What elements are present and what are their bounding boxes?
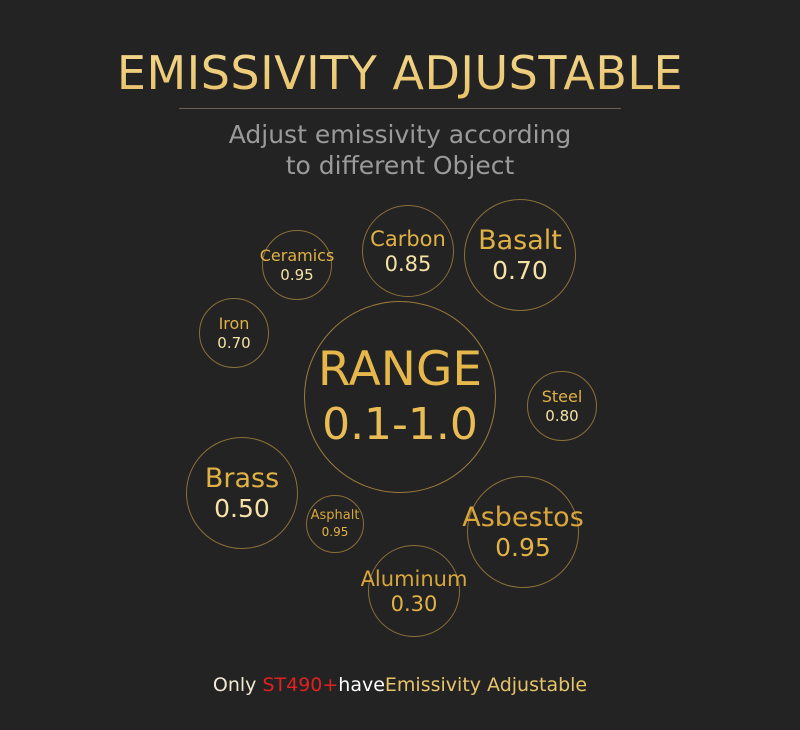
footer-have-text: have bbox=[338, 674, 385, 696]
bubble-steel-label: Steel bbox=[542, 387, 583, 406]
page-subtitle: Adjust emissivity according to different… bbox=[0, 119, 800, 181]
bubble-steel-value: 0.80 bbox=[545, 407, 578, 425]
bubble-brass[interactable]: Brass 0.50 bbox=[186, 437, 298, 549]
header: EMISSIVITY ADJUSTABLE Adjust emissivity … bbox=[0, 0, 800, 181]
bubble-range-value: 0.1-1.0 bbox=[322, 400, 478, 450]
bubble-iron-label: Iron bbox=[219, 314, 250, 333]
bubble-aluminum[interactable]: Aluminum 0.30 bbox=[368, 545, 460, 637]
bubble-asphalt-label: Asphalt bbox=[311, 508, 360, 524]
bubble-carbon-label: Carbon bbox=[370, 227, 446, 251]
footer-only-text: Only bbox=[213, 674, 263, 696]
bubble-iron-value: 0.70 bbox=[217, 334, 250, 352]
bubble-range[interactable]: RANGE 0.1-1.0 bbox=[304, 301, 496, 493]
bubble-basalt-value: 0.70 bbox=[492, 257, 548, 285]
title-divider bbox=[179, 108, 621, 109]
bubble-asbestos-label: Asbestos bbox=[462, 503, 584, 533]
bubble-asphalt-value: 0.95 bbox=[322, 525, 349, 540]
bubble-ceramics-value: 0.95 bbox=[280, 266, 313, 284]
bubble-iron[interactable]: Iron 0.70 bbox=[199, 298, 269, 368]
page-title: EMISSIVITY ADJUSTABLE bbox=[0, 0, 800, 100]
bubble-ceramics[interactable]: Ceramics 0.95 bbox=[262, 230, 332, 300]
footer-feature-text: Emissivity Adjustable bbox=[385, 674, 587, 696]
bubble-steel[interactable]: Steel 0.80 bbox=[527, 371, 597, 441]
bubble-aluminum-label: Aluminum bbox=[361, 567, 468, 591]
bubble-brass-label: Brass bbox=[205, 464, 279, 494]
bubble-basalt-label: Basalt bbox=[478, 226, 562, 256]
subtitle-line-1: Adjust emissivity according bbox=[229, 120, 572, 149]
bubble-asbestos-value: 0.95 bbox=[495, 534, 551, 562]
footer-model-name: ST490+ bbox=[262, 674, 338, 696]
bubble-brass-value: 0.50 bbox=[214, 495, 270, 523]
bubble-carbon[interactable]: Carbon 0.85 bbox=[362, 205, 454, 297]
footer-note: Only ST490+haveEmissivity Adjustable bbox=[0, 672, 800, 698]
bubble-range-label: RANGE bbox=[318, 344, 482, 396]
emissivity-infographic: EMISSIVITY ADJUSTABLE Adjust emissivity … bbox=[0, 0, 800, 730]
bubble-basalt[interactable]: Basalt 0.70 bbox=[464, 199, 576, 311]
bubble-carbon-value: 0.85 bbox=[385, 252, 432, 276]
subtitle-line-2: to different Object bbox=[286, 151, 515, 180]
bubble-asphalt[interactable]: Asphalt 0.95 bbox=[306, 495, 364, 553]
bubble-aluminum-value: 0.30 bbox=[391, 592, 438, 616]
bubble-asbestos[interactable]: Asbestos 0.95 bbox=[467, 476, 579, 588]
bubble-ceramics-label: Ceramics bbox=[260, 246, 335, 265]
